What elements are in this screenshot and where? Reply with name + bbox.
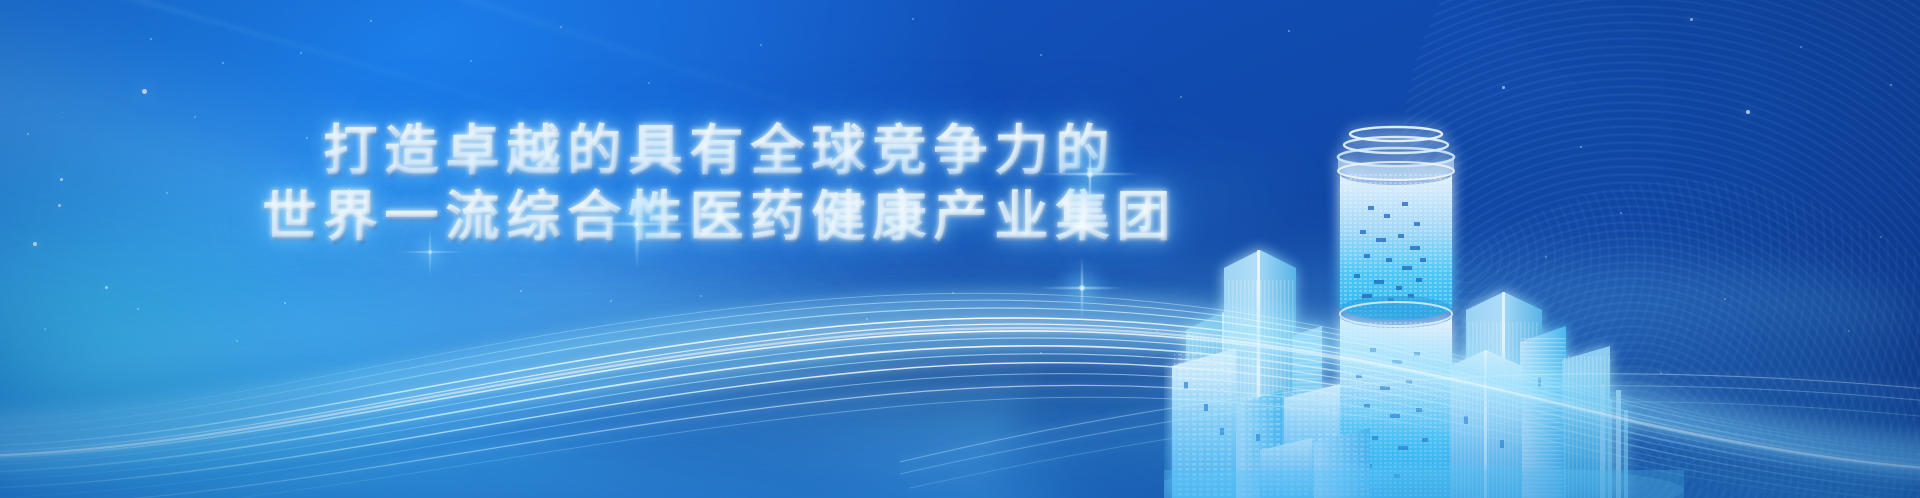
- light-particle: [1502, 86, 1505, 89]
- light-particle: [44, 328, 46, 330]
- building-foreground-low: [1260, 428, 1370, 498]
- light-particle: [1040, 54, 1042, 56]
- light-particle: [1322, 360, 1324, 362]
- light-particle: [370, 20, 372, 22]
- building-far-left: [1186, 312, 1260, 498]
- light-particle: [470, 60, 472, 62]
- light-particle: [236, 340, 238, 342]
- light-particle: [912, 18, 914, 20]
- light-particle: [222, 62, 224, 64]
- wave-glow-pad: [0, 298, 1920, 498]
- light-particle: [866, 318, 868, 320]
- light-particle: [62, 112, 63, 113]
- headline-line-2: 世界一流综合性医药健康产业集团: [0, 184, 1440, 250]
- streak-bundle-right: [900, 374, 1920, 488]
- light-particle: [150, 38, 152, 40]
- hero-banner: 打造卓越的具有全球竞争力的 世界一流综合性医药健康产业集团: [0, 0, 1920, 498]
- building-right-narrow: [1520, 326, 1566, 498]
- light-particle: [952, 292, 954, 294]
- building-left-block: [1172, 348, 1236, 498]
- light-particle: [1890, 84, 1892, 86]
- light-particle: [1156, 330, 1158, 332]
- light-particle: [1288, 30, 1290, 32]
- building-far-right: [1562, 346, 1610, 498]
- soft-wave-band-2: [0, 270, 1920, 460]
- light-particle: [300, 52, 302, 54]
- building-left-tall: [1224, 250, 1296, 498]
- light-particle: [1746, 110, 1750, 114]
- light-particle: [648, 82, 650, 84]
- headline-line-1: 打造卓越的具有全球竞争力的: [0, 118, 1440, 184]
- light-particle: [700, 295, 702, 297]
- light-particle: [610, 300, 612, 302]
- light-particle: [1545, 256, 1547, 258]
- building-right-sticks: [1600, 384, 1628, 498]
- light-particle: [142, 89, 147, 94]
- light-particle: [1040, 352, 1042, 354]
- wave-shadow-dip: [480, 300, 1380, 450]
- light-particle: [1848, 330, 1850, 332]
- bottom-light-sheen: [0, 378, 1920, 498]
- light-particle: [560, 26, 562, 28]
- building-right-mid: [1450, 350, 1522, 498]
- light-particle: [284, 302, 286, 304]
- headline-block: 打造卓越的具有全球竞争力的 世界一流综合性医药健康产业集团: [0, 118, 1920, 250]
- building-midleft-short: [1238, 390, 1282, 498]
- light-particle: [1246, 320, 1248, 322]
- light-particle: [520, 290, 522, 292]
- light-particle: [788, 334, 790, 336]
- building-right-chevron: [1466, 292, 1542, 498]
- streak-bundle-main: [0, 293, 1920, 498]
- building-mid-block: [1284, 384, 1340, 498]
- building-thin-striped: [1292, 326, 1322, 498]
- light-particle: [1660, 372, 1662, 374]
- light-particle: [105, 286, 108, 289]
- light-particle: [1690, 18, 1693, 21]
- light-particle: [1800, 46, 1802, 48]
- light-particle: [137, 308, 139, 310]
- light-particle: [1724, 298, 1726, 300]
- light-particle: [1180, 96, 1182, 98]
- light-particle: [760, 44, 762, 46]
